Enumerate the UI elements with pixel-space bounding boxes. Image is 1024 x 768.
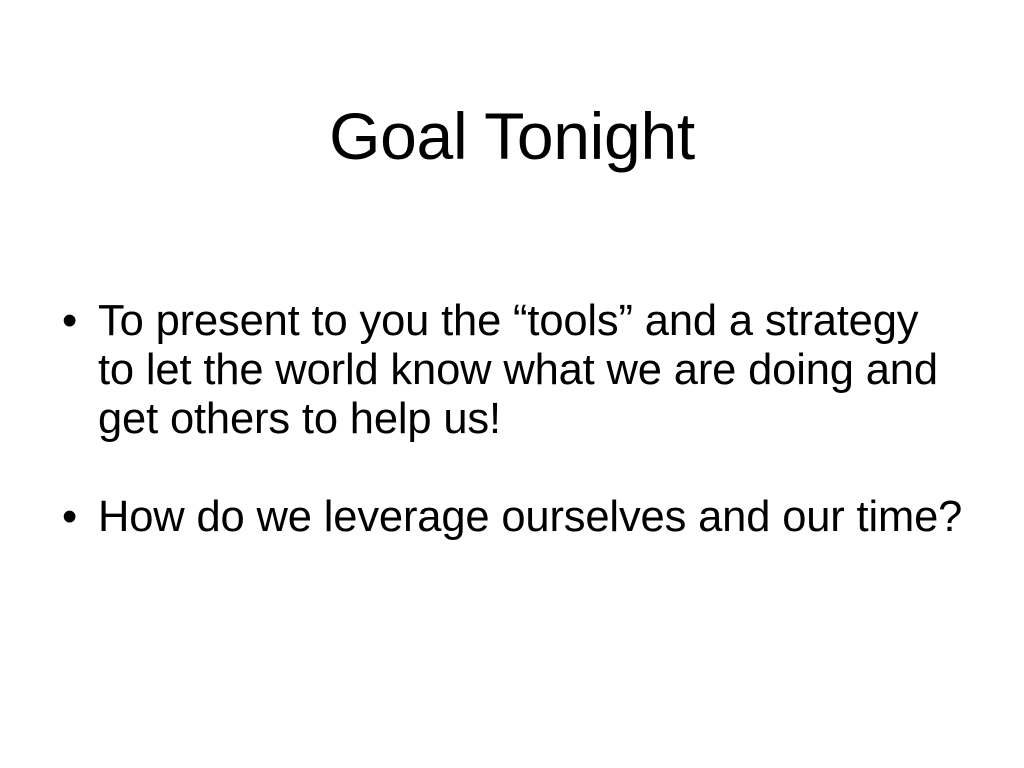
presentation-slide: Goal Tonight • To present to you the “to… xyxy=(0,0,1024,768)
bullet-point-icon: • xyxy=(62,493,86,542)
bullet-list: • To present to you the “tools” and a st… xyxy=(56,297,986,542)
bullet-point-icon: • xyxy=(62,297,86,346)
bullet-item: • How do we leverage ourselves and our t… xyxy=(56,493,986,542)
bullet-item-text: How do we leverage ourselves and our tim… xyxy=(98,493,986,542)
slide-body-content: • To present to you the “tools” and a st… xyxy=(56,297,986,542)
slide-title: Goal Tonight xyxy=(0,102,1024,171)
bullet-item: • To present to you the “tools” and a st… xyxy=(56,297,986,444)
bullet-item-text: To present to you the “tools” and a stra… xyxy=(98,297,966,444)
